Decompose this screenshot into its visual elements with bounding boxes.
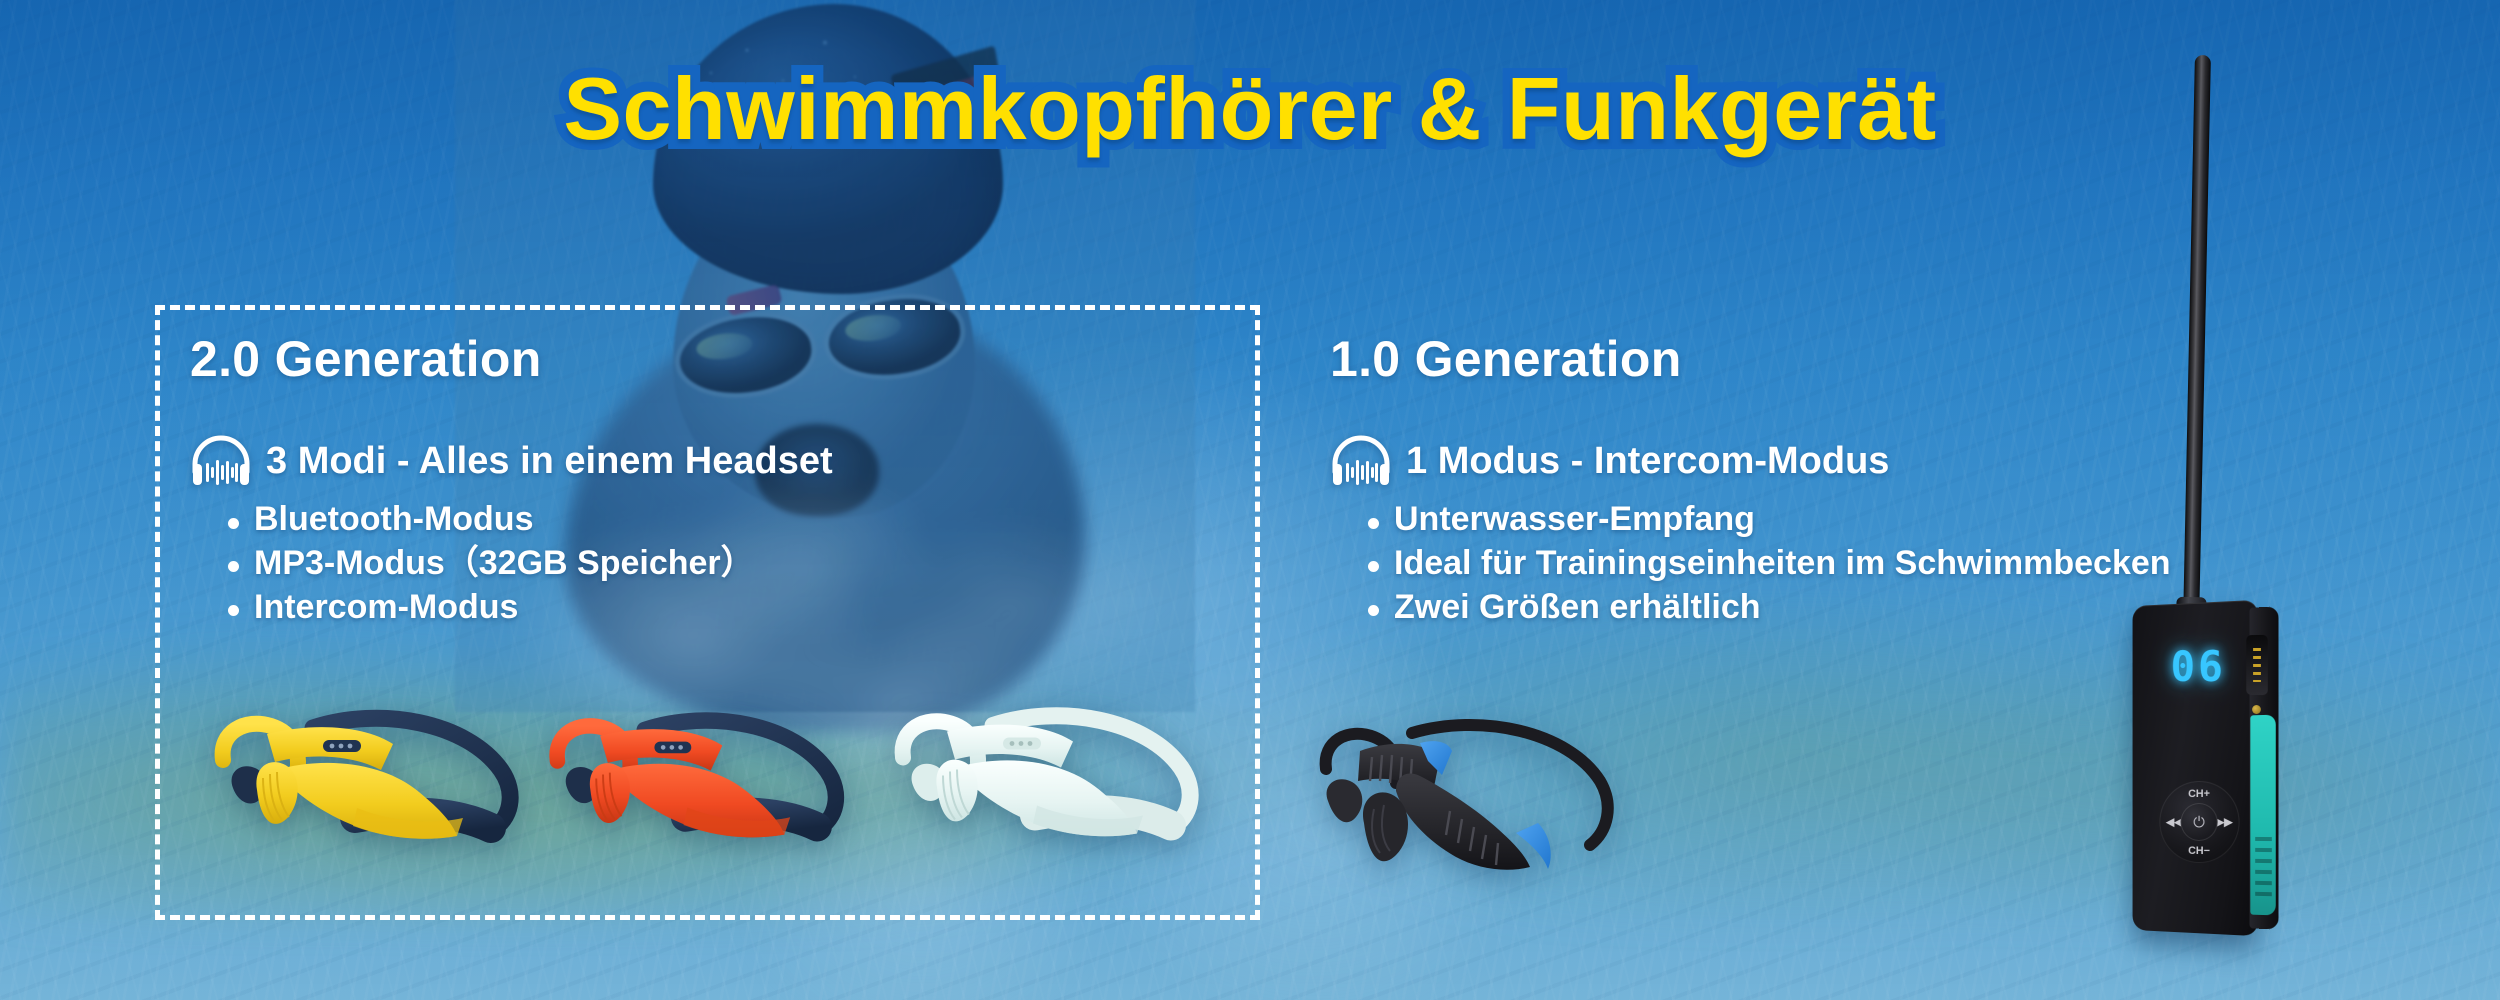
left-mode-label: 3 Modi - Alles in einem Headset (266, 440, 833, 483)
banner-title: Schwimmkopfhörer & Funkgerät (0, 58, 2500, 160)
channel-down-button[interactable]: CH− (2188, 845, 2210, 857)
headset-render (1300, 705, 1630, 905)
headphones-waveform-icon (1330, 434, 1392, 488)
right-panel: 1.0 Generation 1 Modus - Intercom-Modus (1330, 330, 2230, 631)
list-item: Ideal für Trainingseinheiten im Schwimmb… (1368, 544, 2230, 584)
product-bone-conduction-headset-black-blue (1300, 705, 1630, 905)
left-feature-list: Bluetooth-Modus MP3-Modus（32GB Speicher）… (190, 500, 1230, 627)
charging-pins (2253, 648, 2261, 682)
right-mode-row: 1 Modus - Intercom-Modus (1330, 434, 2230, 488)
channel-up-button[interactable]: CH+ (2188, 788, 2210, 800)
list-item: Intercom-Modus (228, 588, 1230, 628)
left-panel-heading: 2.0 Generation (190, 330, 1230, 388)
screw-icon (2252, 705, 2261, 714)
list-item: Unterwasser-Empfang (1368, 500, 2230, 540)
power-button[interactable]: ⏻ (2181, 803, 2218, 841)
antenna (2183, 55, 2211, 625)
list-item: Zwei Größen erhältlich (1368, 588, 2230, 628)
right-panel-heading: 1.0 Generation (1330, 330, 2230, 388)
promo-banner: Schwimmkopfhörer & Funkgerät 2.0 Generat… (0, 0, 2500, 1000)
radio-teal-accent-strip (2250, 715, 2275, 916)
list-item: MP3-Modus（32GB Speicher） (228, 544, 1230, 584)
channel-number: 06 (2171, 641, 2226, 690)
product-bone-conduction-headset-white (885, 695, 1215, 885)
left-mode-row: 3 Modi - Alles in einem Headset (190, 434, 1230, 488)
headset-render (205, 700, 535, 885)
control-dpad[interactable]: CH+ CH− ◀◀ ▶▶ ⏻ (2159, 780, 2239, 863)
waterproof-radio-transceiver: 06 CH+ CH− ◀◀ ▶▶ ⏻ (2140, 55, 2330, 955)
channel-display: 06 (2159, 643, 2237, 690)
headphones-waveform-icon (190, 434, 252, 488)
product-bone-conduction-headset-red (540, 700, 860, 885)
headset-render (885, 695, 1215, 885)
list-item: Bluetooth-Modus (228, 500, 1230, 540)
right-mode-label: 1 Modus - Intercom-Modus (1406, 440, 1889, 483)
right-feature-list: Unterwasser-Empfang Ideal für Trainingse… (1330, 500, 2230, 627)
headset-render (540, 700, 860, 885)
next-button[interactable]: ▶▶ (2216, 815, 2233, 828)
product-bone-conduction-headset-yellow (205, 700, 535, 885)
left-panel: 2.0 Generation 3 Modi - Alles in einem H… (190, 330, 1230, 631)
